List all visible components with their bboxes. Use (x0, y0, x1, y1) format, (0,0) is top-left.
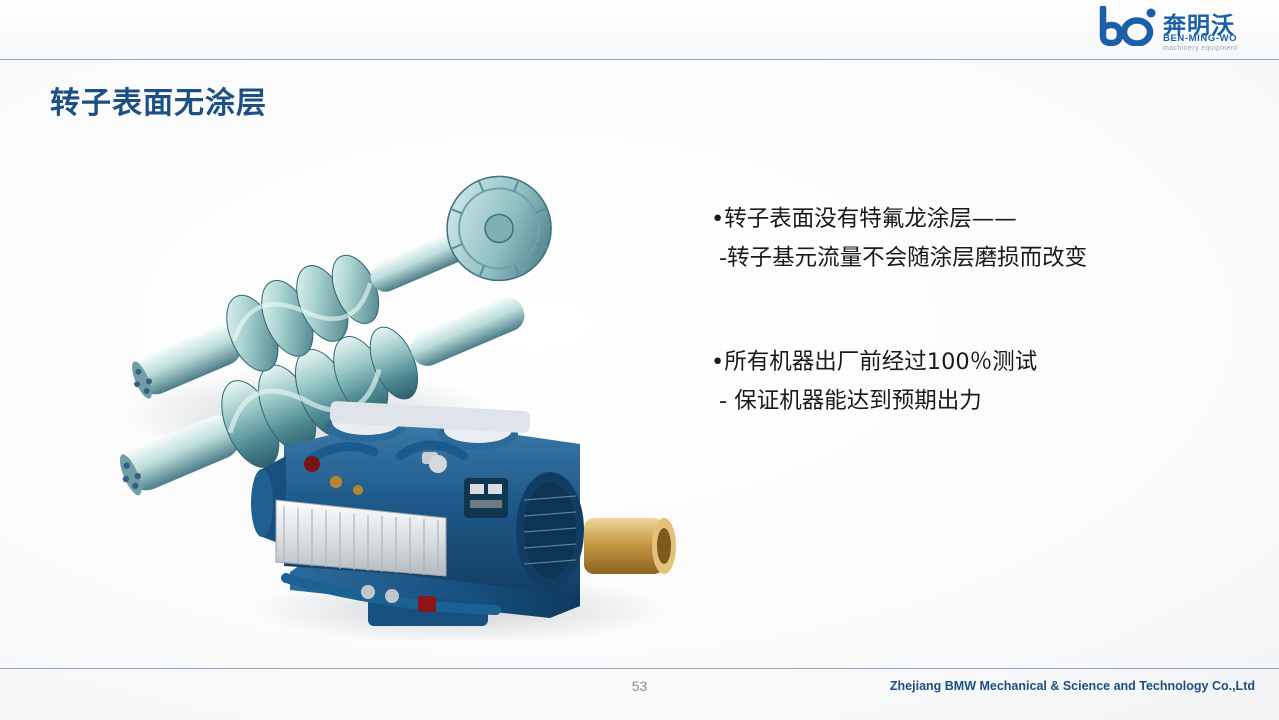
bullet-line-1: •转子表面没有特氟龙涂层—— (711, 208, 1231, 231)
bullet-line-2: -转子基元流量不会随涂层磨损而改变 (711, 247, 1231, 270)
brand-logo: 奔明沃 BEN-MING-WO machinery equipment (1097, 4, 1257, 56)
bullet-list: •转子表面没有特氟龙涂层—— -转子基元流量不会随涂层磨损而改变 •所有机器出厂… (711, 208, 1231, 412)
page-title: 转子表面无涂层 (50, 78, 267, 122)
footer-company-name: Zhejiang BMW Mechanical & Science and Te… (890, 679, 1255, 693)
footer-divider (0, 668, 1279, 669)
slide-canvas: 奔明沃 BEN-MING-WO machinery equipment 转子表面… (0, 0, 1279, 720)
bullet-line-3: •所有机器出厂前经过100％测试 (711, 351, 1231, 374)
logo-english-name: BEN-MING-WO (1163, 33, 1237, 44)
artwork-screw-rotors-and-compressor (60, 160, 720, 640)
paragraph-spacer (711, 269, 1231, 351)
header-band (0, 0, 1279, 59)
logo-tagline: machinery equipment (1163, 45, 1238, 52)
bullet-line-4: - 保证机器能达到预期出力 (711, 390, 1231, 413)
header-divider (0, 59, 1279, 60)
bo-monogram-icon (1097, 6, 1159, 46)
